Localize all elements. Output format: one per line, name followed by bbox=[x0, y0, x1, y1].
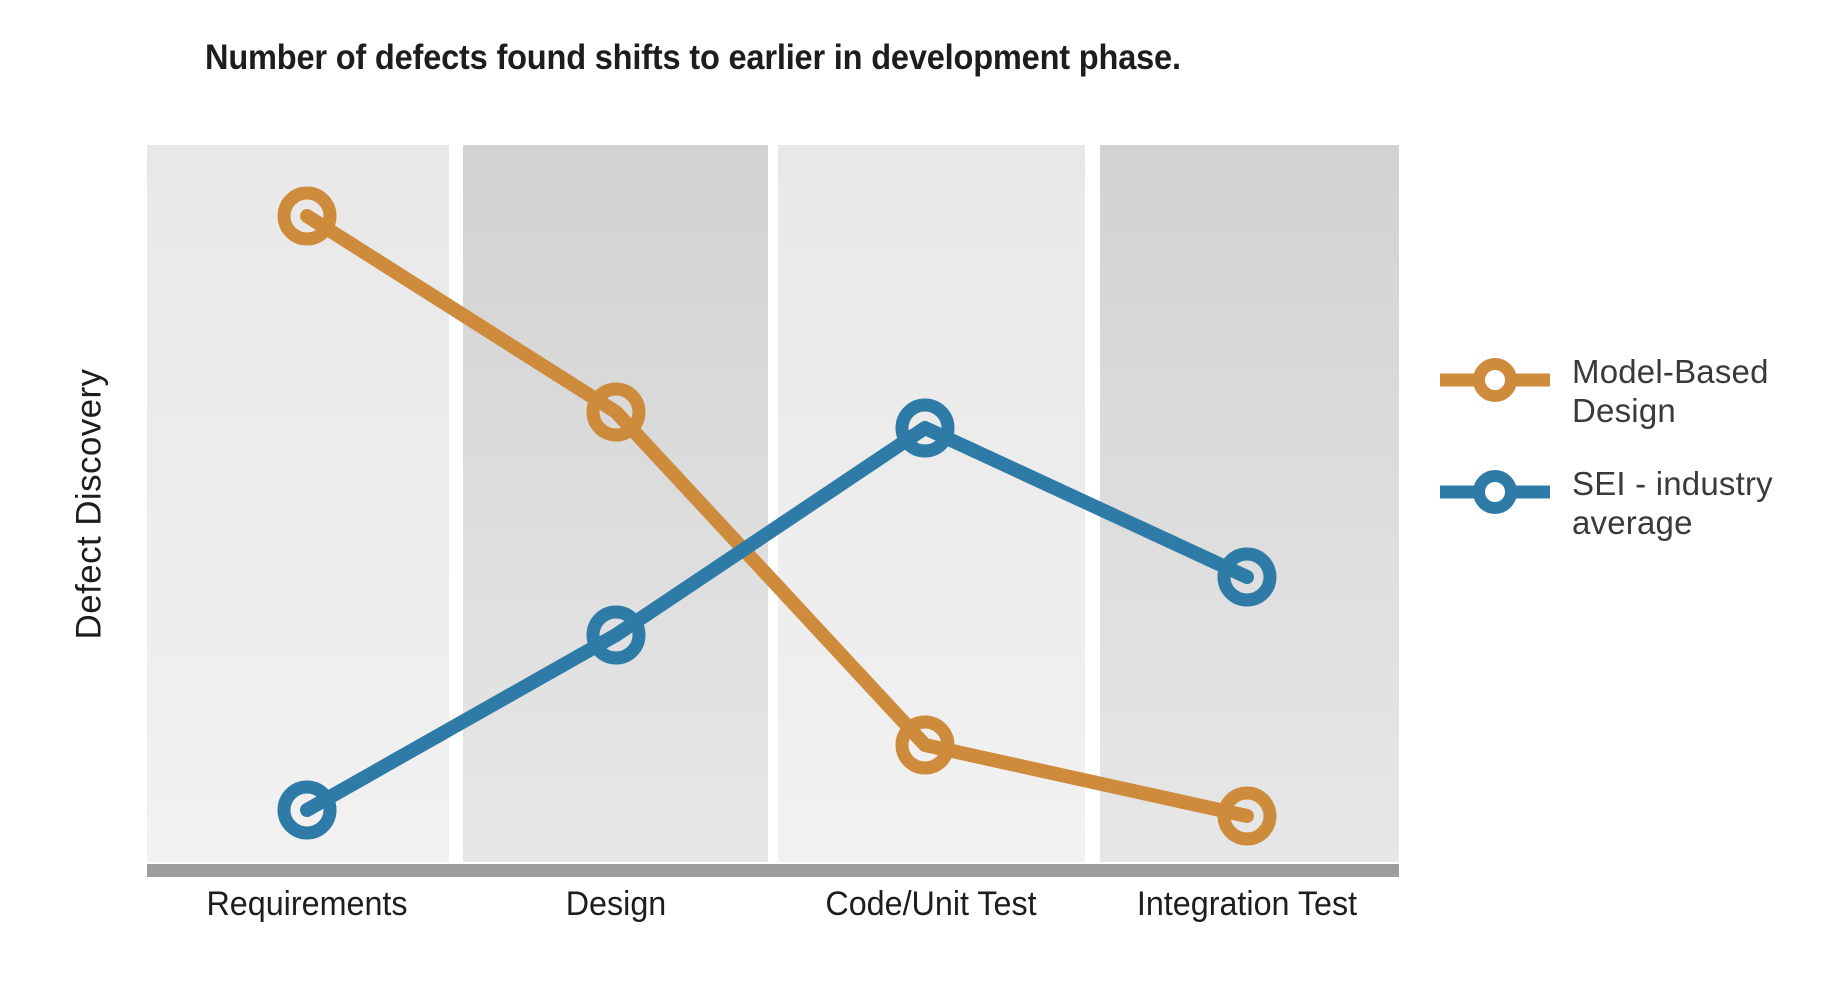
x-tick-label-integration-test: Integration Test bbox=[1137, 885, 1357, 924]
chart-root: Number of defects found shifts to earlie… bbox=[0, 0, 1830, 1002]
legend-label-model-based-design: Model-Based Design bbox=[1572, 352, 1820, 430]
series-line-sei-industry-average bbox=[307, 428, 1247, 810]
x-axis-baseline bbox=[147, 864, 1399, 877]
x-tick-label-requirements: Requirements bbox=[206, 885, 407, 924]
y-axis-label-container: Defect Discovery bbox=[58, 145, 120, 862]
legend-item-sei-industry-average[interactable]: SEI - industry average bbox=[1440, 464, 1820, 542]
x-axis-tick-labels: Requirements Design Code/Unit Test Integ… bbox=[147, 885, 1399, 945]
chart-title: Number of defects found shifts to earlie… bbox=[205, 38, 1181, 78]
y-axis-label: Defect Discovery bbox=[69, 368, 109, 639]
plot-area bbox=[147, 145, 1399, 862]
series-plot bbox=[147, 145, 1399, 862]
legend-marker-model-based-design-icon bbox=[1440, 358, 1550, 402]
x-tick-label-code-unit-test: Code/Unit Test bbox=[825, 885, 1036, 924]
legend-item-model-based-design[interactable]: Model-Based Design bbox=[1440, 352, 1820, 430]
legend-marker-sei-industry-average-icon bbox=[1440, 470, 1550, 514]
x-tick-label-design: Design bbox=[566, 885, 667, 924]
legend-label-sei-industry-average: SEI - industry average bbox=[1572, 464, 1820, 542]
